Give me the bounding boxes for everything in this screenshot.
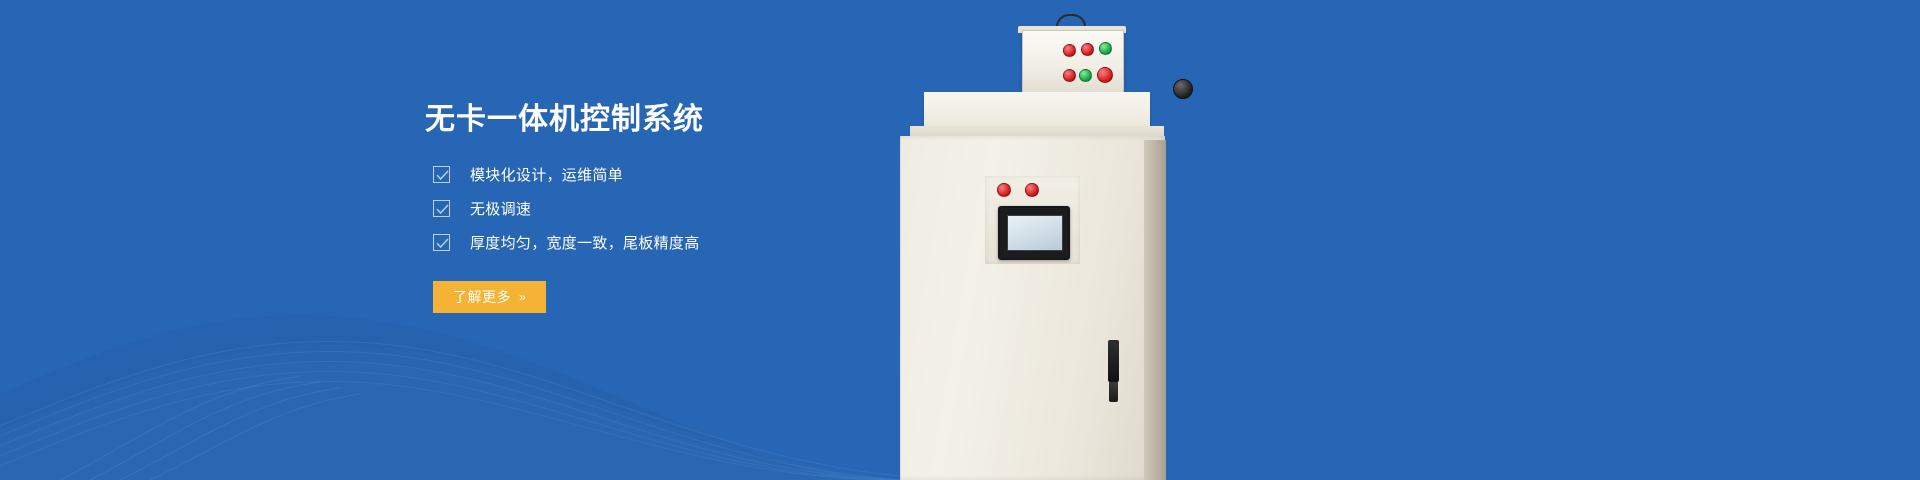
hmi-screen-surface[interactable] bbox=[1007, 215, 1063, 251]
feature-list: 模块化设计，运维简单 无极调速 厚度均匀，宽度一致，尾板精度高 bbox=[433, 163, 700, 265]
emergency-stop-button[interactable] bbox=[1097, 67, 1113, 83]
product-photo bbox=[880, 0, 1300, 480]
indicator-light-red-2[interactable] bbox=[1081, 43, 1094, 56]
checkbox-check-icon bbox=[433, 166, 450, 183]
banner-content: 无卡一体机控制系统 模块化设计，运维简单 无极调速 厚度均匀，宽度一致，尾板精度… bbox=[425, 0, 855, 480]
checkbox-check-icon bbox=[433, 200, 450, 217]
indicator-light-red-1[interactable] bbox=[1063, 44, 1076, 57]
cabinet-door-handle[interactable] bbox=[1108, 340, 1119, 382]
feature-item-3: 厚度均匀，宽度一致，尾板精度高 bbox=[433, 231, 700, 253]
cabinet-seam bbox=[900, 136, 901, 480]
banner-title: 无卡一体机控制系统 bbox=[425, 94, 704, 138]
panel-light-red-1[interactable] bbox=[997, 183, 1011, 197]
feature-label-1: 模块化设计，运维简单 bbox=[470, 164, 623, 185]
feature-label-3: 厚度均匀，宽度一致，尾板精度高 bbox=[470, 232, 700, 253]
feature-item-1: 模块化设计，运维简单 bbox=[433, 163, 700, 185]
indicator-light-green-1[interactable] bbox=[1099, 42, 1112, 55]
learn-more-label: 了解更多 bbox=[453, 287, 511, 307]
hmi-touchscreen[interactable] bbox=[998, 206, 1070, 260]
cabinet-side-edge bbox=[1144, 140, 1166, 480]
feature-item-2: 无极调速 bbox=[433, 197, 700, 219]
indicator-light-red-3[interactable] bbox=[1063, 69, 1076, 82]
hero-banner: 无卡一体机控制系统 模块化设计，运维简单 无极调速 厚度均匀，宽度一致，尾板精度… bbox=[0, 0, 1920, 480]
checkbox-check-icon bbox=[433, 234, 450, 251]
indicator-light-green-2[interactable] bbox=[1079, 69, 1092, 82]
control-box bbox=[1022, 30, 1124, 98]
cabinet-lock[interactable] bbox=[1109, 382, 1118, 402]
panel-light-red-2[interactable] bbox=[1025, 183, 1039, 197]
feature-label-2: 无极调速 bbox=[470, 198, 531, 219]
chevron-right-icon: » bbox=[519, 290, 526, 304]
learn-more-button[interactable]: 了解更多 » bbox=[433, 281, 546, 313]
selector-knob[interactable] bbox=[1173, 79, 1193, 99]
